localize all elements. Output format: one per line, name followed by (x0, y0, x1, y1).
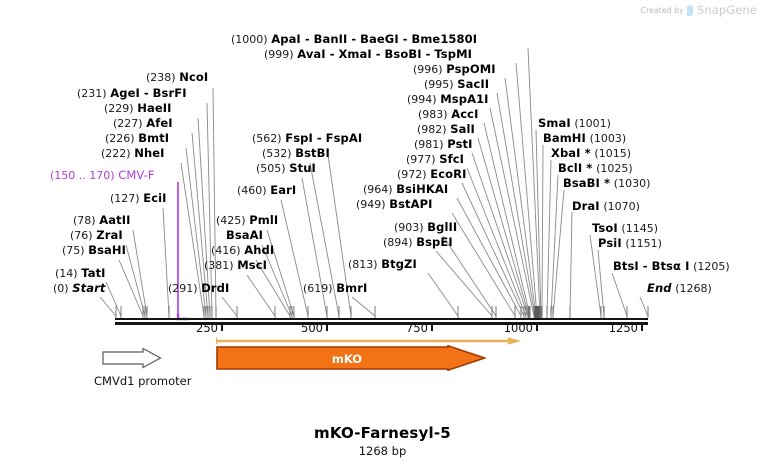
sequence-ruler (115, 318, 648, 325)
ruler-tick (536, 322, 538, 331)
restriction-site-ticks (0, 0, 765, 464)
feature-cmvd1-promoter[interactable] (102, 347, 162, 369)
ruler-line-top (115, 318, 648, 320)
ruler-tick (641, 322, 643, 331)
feature-label-mko: mKO (216, 352, 478, 366)
page-title: mKO-Farnesyl-5 (0, 424, 765, 442)
ruler-tick-label: 1250 (609, 321, 641, 335)
ruler-tick-label: 250 (196, 321, 221, 335)
snapgene-map-canvas: Created by SnapGene (0, 0, 765, 464)
ruler-line-bottom (115, 322, 648, 326)
ruler-tick-label: 750 (406, 321, 431, 335)
sequence-length-label: 1268 bp (0, 444, 765, 458)
ruler-tick-label: 1000 (504, 321, 536, 335)
orf-thin-arrow[interactable] (216, 337, 522, 345)
feature-label-cmvd1-promoter: CMVd1 promoter (94, 374, 191, 388)
ruler-tick-label: 500 (301, 321, 326, 335)
ruler-tick (431, 322, 433, 331)
ruler-tick (221, 322, 223, 331)
ruler-tick (326, 322, 328, 331)
